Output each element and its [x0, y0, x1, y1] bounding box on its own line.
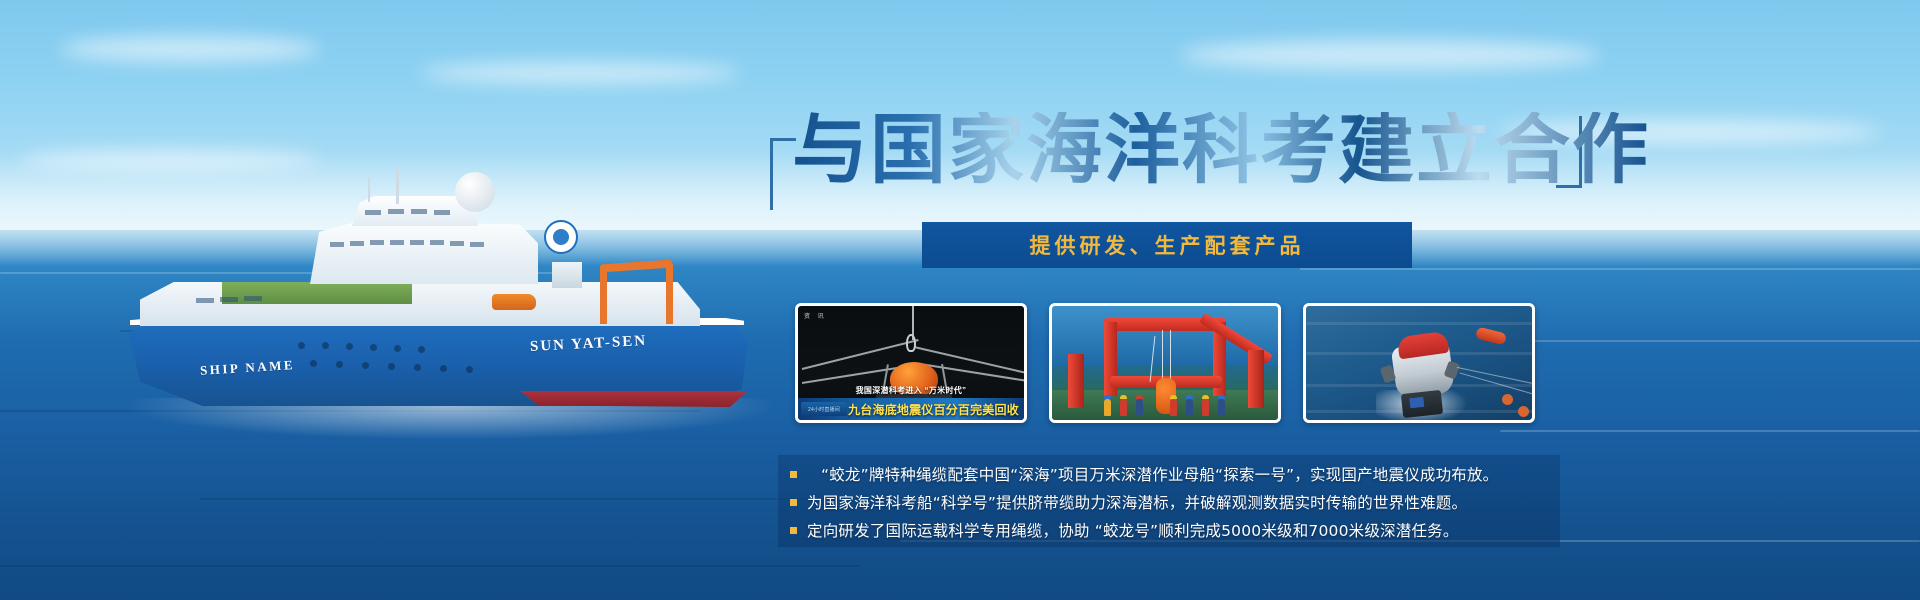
subtitle-bar: 提供研发、生产配套产品: [922, 222, 1412, 268]
bullet-marker-icon: [790, 471, 797, 478]
thumb-corner-label: 资 讯: [804, 311, 827, 320]
wave-line: [1300, 268, 1920, 270]
subtitle-text: 提供研发、生产配套产品: [1030, 230, 1305, 260]
bullet-text: 为国家海洋科考船“科学号”提供脐带缆助力深海潜标，并破解观测数据实时传输的世界性…: [807, 490, 1467, 517]
bullet-item: “蛟龙”牌特种绳缆配套中国“深海”项目万米深潜作业母船“探索一号”，实现国产地震…: [790, 462, 1546, 490]
feature-bullet-panel: “蛟龙”牌特种绳缆配套中国“深海”项目万米深潜作业母船“探索一号”，实现国产地震…: [778, 455, 1560, 547]
wave-line: [1500, 430, 1920, 432]
deck-tower-left: [1068, 354, 1084, 408]
thumbnail-submersible-at-sea[interactable]: [1303, 303, 1535, 423]
wave-line: [200, 498, 840, 500]
thumb-sea: [1052, 306, 1278, 365]
bullet-item: 定向研发了国际运载科学专用绳缆，协助 “蛟龙号”顺利完成5000米级和7000米…: [790, 518, 1546, 546]
bullet-marker-icon: [790, 499, 797, 506]
sled-panel: [1409, 397, 1424, 408]
hero-banner: SHIP NAME SUN YAT-SEN 与国家海洋科考建立合作 提供研发、生…: [0, 0, 1920, 600]
cloud-shape: [420, 62, 740, 84]
thumbnail-seismometer-recovery[interactable]: 资 讯 我国深潜科考进入 “万米时代” 24小时直播间 九台海底地震仪百分百完美…: [795, 303, 1027, 423]
thumbnail-deck-crane-deployment[interactable]: [1049, 303, 1281, 423]
thumb-caption-main: 九台海底地震仪百分百完美回收: [847, 401, 1024, 418]
page-title: 与国家海洋科考建立合作: [792, 112, 1650, 188]
deck-tower-right: [1248, 350, 1264, 408]
research-vessel: SHIP NAME SUN YAT-SEN: [100, 170, 760, 460]
bullet-item: 为国家海洋科考船“科学号”提供脐带缆助力深海潜标，并破解观测数据实时传输的世界性…: [790, 490, 1546, 518]
bullet-marker-icon: [790, 527, 797, 534]
rescue-boat-icon: [1475, 327, 1507, 346]
live-badge: 24小时直播间: [801, 402, 847, 416]
porthole-group: [100, 170, 760, 460]
cloud-shape: [1180, 40, 1600, 70]
cloud-shape: [60, 36, 320, 62]
thumb-caption-bar: 24小时直播间 九台海底地震仪百分百完美回收: [798, 398, 1024, 420]
crane-hook-icon: [906, 334, 916, 352]
wave-line: [0, 565, 860, 567]
thumb-caption-top: 我国深潜科考进入 “万米时代”: [798, 385, 1024, 396]
bullet-text: “蛟龙”牌特种绳缆配套中国“深海”项目万米深潜作业母船“探索一号”，实现国产地震…: [807, 462, 1498, 489]
bullet-text: 定向研发了国际运载科学专用绳缆，协助 “蛟龙号”顺利完成5000米级和7000米…: [807, 518, 1459, 545]
tow-sled-icon: [1401, 390, 1443, 418]
thumbnail-strip: 资 讯 我国深潜科考进入 “万米时代” 24小时直播间 九台海底地震仪百分百完美…: [795, 303, 1535, 423]
headline-block: 与国家海洋科考建立合作: [770, 112, 1600, 232]
